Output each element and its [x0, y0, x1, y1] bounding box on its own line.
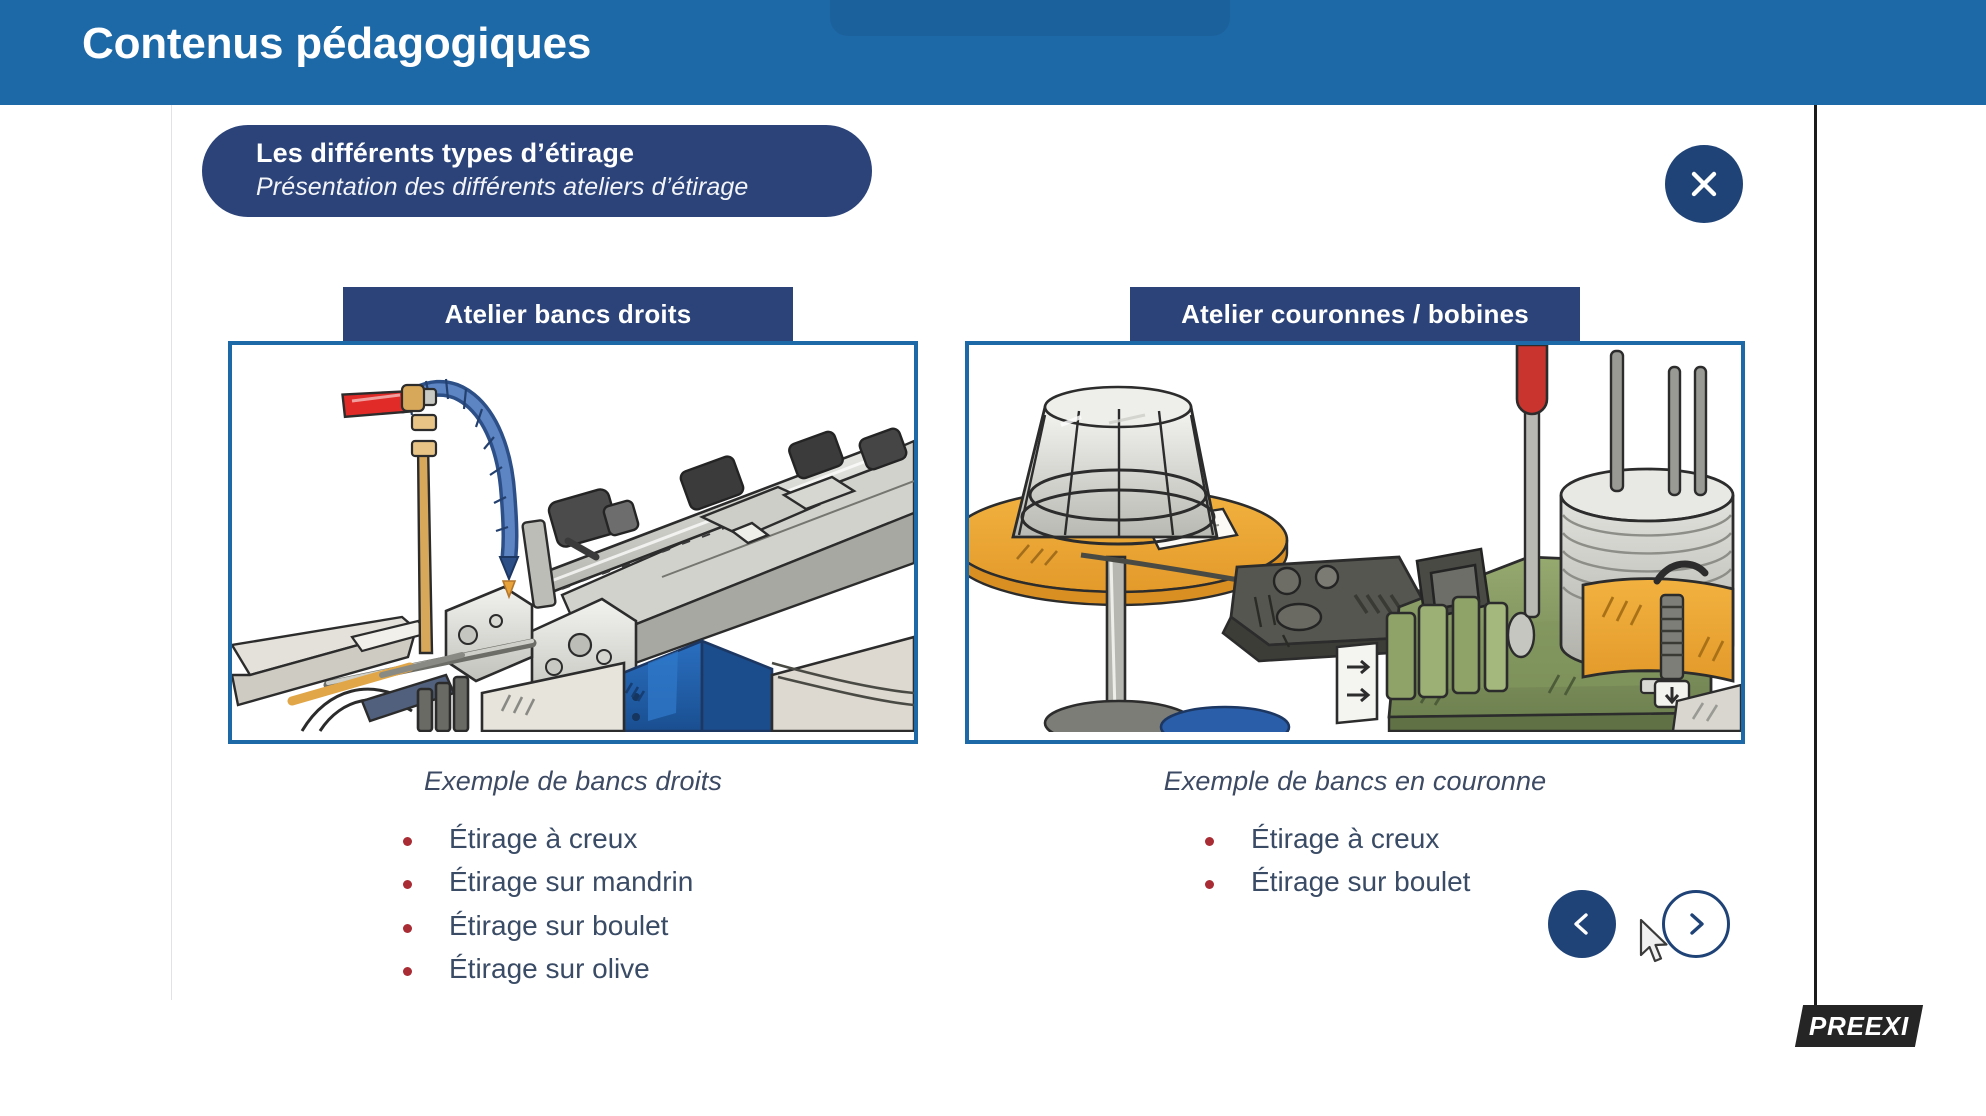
list-item: Étirage sur mandrin [403, 866, 918, 897]
bullet-text: Étirage à creux [449, 823, 637, 854]
bullet-dot-icon [403, 967, 412, 976]
bullet-text: Étirage sur boulet [449, 910, 668, 941]
left-divider-rule [171, 105, 172, 1000]
list-item: Étirage sur boulet [403, 910, 918, 941]
bullet-text: Étirage sur mandrin [449, 866, 693, 897]
list-item: Étirage sur olive [403, 953, 918, 984]
chevron-left-icon [1567, 909, 1597, 939]
close-button[interactable] [1665, 145, 1743, 223]
brand-logo: PREEXI [1795, 1005, 1923, 1047]
brand-logo-text: PREEXI [1809, 1011, 1909, 1042]
lesson-title: Les différents types d’étirage [256, 138, 872, 170]
next-button[interactable] [1662, 890, 1730, 958]
list-item: Étirage à creux [403, 823, 918, 854]
bullet-dot-icon [403, 924, 412, 933]
slide-navigation [1548, 890, 1748, 990]
bullet-dot-icon [1205, 837, 1214, 846]
bullet-dot-icon [403, 837, 412, 846]
app-header: Contenus pédagogiques [0, 0, 1986, 105]
chevron-right-icon [1681, 909, 1711, 939]
figure-caption-left: Exemple de bancs droits [228, 766, 918, 797]
bullet-text: Étirage sur boulet [1251, 866, 1470, 897]
bullet-list-right: Étirage à creux Étirage sur boulet [965, 823, 1745, 898]
lesson-subtitle: Présentation des différents ateliers d’é… [256, 172, 872, 203]
panel-header-right: Atelier couronnes / bobines [1130, 287, 1580, 341]
lesson-title-banner: Les différents types d’étirage Présentat… [202, 125, 872, 217]
previous-button[interactable] [1548, 890, 1616, 958]
straight-drawbench-illustration [232, 345, 914, 732]
bullet-text: Étirage à creux [1251, 823, 1439, 854]
figure-straight-drawbench [228, 341, 918, 744]
figure-coil-drawbench [965, 341, 1745, 744]
header-texture-overlay [830, 0, 1230, 36]
right-divider-rule [1814, 105, 1817, 1005]
figure-caption-right: Exemple de bancs en couronne [965, 766, 1745, 797]
close-icon [1684, 164, 1724, 204]
bullet-dot-icon [403, 880, 412, 889]
bullet-text: Étirage sur olive [449, 953, 650, 984]
panel-couronnes-bobines: Atelier couronnes / bobines [965, 287, 1745, 914]
bullet-list-left: Étirage à creux Étirage sur mandrin Étir… [228, 823, 918, 984]
page-title: Contenus pédagogiques [82, 19, 591, 69]
list-item: Étirage à creux [1205, 823, 1745, 854]
panel-header-left: Atelier bancs droits [343, 287, 793, 341]
panel-bancs-droits: Atelier bancs droits [228, 287, 918, 1000]
coil-drawbench-illustration [969, 345, 1741, 732]
bullet-dot-icon [1205, 880, 1214, 889]
